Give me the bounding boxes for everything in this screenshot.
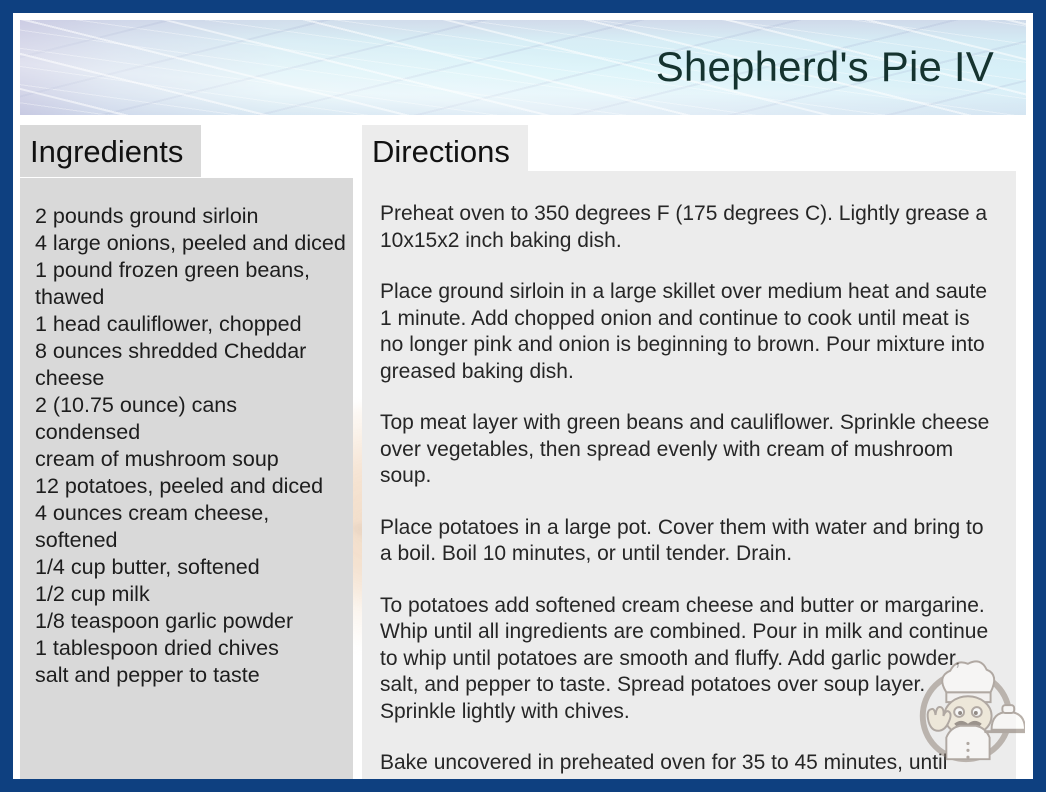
- ingredient-item: 4 ounces cream cheese, softened: [35, 500, 347, 554]
- ingredient-item: 1/8 teaspoon garlic powder: [35, 608, 347, 635]
- ingredient-item: 1 pound frozen green beans,: [35, 257, 347, 284]
- direction-step: Bake uncovered in preheated oven for 35 …: [380, 750, 998, 779]
- ingredient-item: 4 large onions, peeled and diced: [35, 230, 347, 257]
- ingredient-item: 1/4 cup butter, softened: [35, 554, 347, 581]
- chef-hat-icon: [942, 661, 994, 692]
- ingredients-heading: Ingredients: [20, 125, 201, 177]
- chef-hand-icon: [928, 707, 951, 731]
- ingredients-panel: 2 pounds ground sirloin 4 large onions, …: [20, 178, 353, 779]
- ingredient-item: 1 head cauliflower, chopped: [35, 311, 347, 338]
- ingredient-item: salt and pepper to taste: [35, 662, 347, 689]
- ingredient-item: thawed: [35, 284, 347, 311]
- ingredient-item: 1/2 cup milk: [35, 581, 347, 608]
- chef-mascot-logo: [907, 653, 1025, 771]
- direction-step: Preheat oven to 350 degrees F (175 degre…: [380, 201, 998, 254]
- recipe-card: Shepherd's Pie IV Ingredients 2 pounds g…: [0, 0, 1046, 792]
- ingredient-list: 2 pounds ground sirloin 4 large onions, …: [20, 178, 353, 689]
- direction-step: Place potatoes in a large pot. Cover the…: [380, 515, 998, 568]
- ingredient-item: 8 ounces shredded Cheddar: [35, 338, 347, 365]
- ingredient-item: cheese: [35, 365, 347, 392]
- directions-heading: Directions: [362, 125, 528, 177]
- direction-step: Place ground sirloin in a large skillet …: [380, 279, 998, 385]
- title-banner: Shepherd's Pie IV: [20, 20, 1026, 115]
- recipe-title: Shepherd's Pie IV: [656, 43, 994, 91]
- recipe-page: Shepherd's Pie IV Ingredients 2 pounds g…: [13, 13, 1033, 779]
- ingredient-item: cream of mushroom soup: [35, 446, 347, 473]
- ingredient-item: 12 potatoes, peeled and diced: [35, 473, 347, 500]
- cloche-icon: [992, 712, 1025, 730]
- direction-step: To potatoes add softened cream cheese an…: [380, 593, 998, 726]
- ingredient-item: 2 pounds ground sirloin: [35, 203, 347, 230]
- ingredient-item: 1 tablespoon dried chives: [35, 635, 347, 662]
- direction-step: Top meat layer with green beans and caul…: [380, 410, 998, 490]
- ingredient-item: 2 (10.75 ounce) cans condensed: [35, 392, 347, 446]
